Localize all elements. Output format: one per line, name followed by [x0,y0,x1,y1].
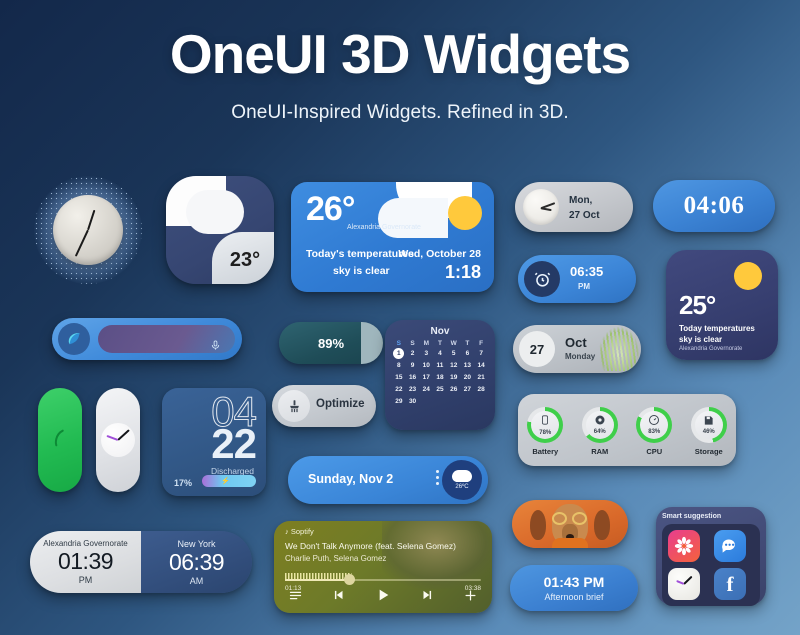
calendar-day-cell[interactable]: 25 [433,384,447,395]
music-player-widget[interactable]: ♪ Soptify We Don't Talk Anymore (feat. S… [274,521,492,613]
calendar-day-cell[interactable]: 26 [447,384,461,395]
smart-suggestion-title: Smart suggestion [662,513,760,520]
world-clock-local-time: 01:39 [58,548,113,575]
music-app-label: Soptify [291,527,314,536]
music-track-title: We Don't Talk Anymore (feat. Selena Gome… [285,541,456,551]
page-title: OneUI 3D Widgets [0,26,800,84]
clock-pill-widget[interactable] [96,388,140,492]
calendar-day-cell[interactable]: 20 [461,372,475,383]
calendar-day-header: T [433,340,447,347]
progress-ring: 46% [691,407,727,443]
facebook-glyph: f [727,572,734,597]
microphone-icon[interactable] [210,338,221,358]
weather-dark-widget[interactable]: 25° Today temperatures sky is clear Alex… [666,250,778,360]
calendar-day-cell[interactable]: 18 [433,372,447,383]
calendar-day-cell[interactable]: 7 [474,348,488,359]
calendar-day-cell[interactable]: 1 [393,348,404,359]
battery-clock-minute: 22 [211,420,256,468]
cloud-temp-value: 23° [230,249,260,272]
battery-percent-value: 89% [318,336,344,351]
world-clock-remote[interactable]: New York 06:39 AM [141,531,252,593]
gauge-value: 83% [648,429,660,435]
calendar-day-cell[interactable]: 4 [433,348,447,359]
brief-time: 01:43 PM [544,574,605,590]
world-clock-remote-meridiem: AM [190,576,204,586]
gallery-app-icon[interactable] [668,530,700,562]
search-bar-widget[interactable] [52,318,242,360]
weather-icon-widget[interactable]: 23° [166,176,274,284]
battery-fill-indicator [361,322,383,364]
queue-icon[interactable] [288,588,303,608]
sun-icon [734,262,762,290]
page-header: OneUI 3D Widgets OneUI-Inspired Widgets.… [0,0,800,124]
weather-large-widget[interactable]: 26° Alexandria Governorate Today's tempe… [291,182,494,292]
clock-hour-hand [87,210,95,231]
optimize-pill-widget[interactable]: Optimize [272,385,376,427]
weather-dark-line1: Today temperatures [679,324,755,333]
gauge-label: Battery [527,447,563,456]
calendar-day-cell[interactable]: 21 [474,372,488,383]
facebook-app-icon[interactable]: f [714,568,746,600]
next-icon[interactable] [420,588,434,607]
calendar-day-header: F [474,340,488,347]
calendar-widget[interactable]: Nov SSMTWTF12345678910111213141516171819… [385,320,495,430]
dog-sweater [552,538,588,548]
speedometer-icon [648,414,660,428]
calendar-month: Nov [392,326,488,337]
battery-level-bar: ⚡ [202,475,256,487]
gauge-inner: 46% [695,411,723,439]
calendar-day-cell[interactable]: 27 [461,384,475,395]
brief-pill-widget[interactable]: 01:43 PM Afternoon brief [510,565,638,611]
calendar-day-cell[interactable]: 10 [419,360,433,371]
calendar-day-cell[interactable]: 9 [406,360,420,371]
clock-hour-hand [676,580,684,585]
date-month: Oct [565,335,587,350]
phone-icon [49,427,71,454]
plant-icon [599,327,639,371]
gauge-label: RAM [582,447,618,456]
calendar-day-cell[interactable]: 11 [433,360,447,371]
clock-app-icon[interactable] [668,568,700,600]
progress-ring: 78% [527,407,563,443]
alarm-pill-widget[interactable]: 06:35 PM [518,255,636,303]
previous-icon[interactable] [332,588,346,607]
digital-clock-pill-widget[interactable]: 04:06 [653,180,775,232]
calendar-day-header: T [461,340,475,347]
browser-icon[interactable] [58,323,90,355]
glasses-right-lens [572,512,587,525]
alarm-meridiem: PM [578,282,590,291]
calendar-day-header: W [447,340,461,347]
weather-badge: 26ºC [442,460,482,500]
add-icon[interactable] [463,588,478,608]
world-clock-local-city: Alexandria Governorate [43,539,128,548]
clock-date-pill-widget[interactable]: Mon, 27 Oct [515,182,633,232]
calendar-day-cell[interactable]: 24 [419,384,433,395]
calendar-day-cell[interactable]: 22 [392,384,406,395]
calendar-day-header: M [419,340,433,347]
calendar-grid[interactable]: SSMTWTF123456789101112131415161718192021… [392,340,488,407]
calendar-day-header: S [392,340,406,347]
weather-sky [376,182,494,244]
weather-dark-location: Alexandria Governorate [679,346,742,352]
messages-app-icon[interactable] [714,530,746,562]
optimize-label: Optimize [316,398,365,410]
clock-minute-hand [75,230,89,257]
calendar-day-cell[interactable]: 23 [406,384,420,395]
battery-clock-percent: 17% [174,478,192,488]
clock-minute-hand [117,429,129,441]
world-clock-local-meridiem: PM [79,575,93,585]
weather-date: Wed, October 28 [398,248,481,260]
weather-line2: sky is clear [333,265,390,277]
alarm-time: 06:35 [570,264,603,279]
gauge-storage[interactable]: 46%Storage [691,407,727,456]
gauge-value: 46% [703,429,715,435]
page-subtitle: OneUI-Inspired Widgets. Refined in 3D. [0,102,800,124]
progress-knob[interactable] [344,574,355,585]
weather-time: 1:18 [445,262,481,283]
calendar-day-cell[interactable]: 14 [474,360,488,371]
weather-dark-temperature: 25° [679,290,715,321]
gauge-inner: 78% [531,411,559,439]
calendar-day-cell[interactable]: 19 [447,372,461,383]
calendar-day-cell[interactable]: 13 [461,360,475,371]
digital-clock-time: 04:06 [684,192,745,220]
date-pill-widget[interactable]: 27 Oct Monday [513,325,641,373]
calendar-day-cell[interactable]: 8 [392,360,406,371]
music-track-artist: Charlie Puth, Selena Gomez [285,554,386,563]
gauge-label: Storage [691,447,727,456]
clock-face [53,195,123,265]
gauge-ram[interactable]: 64%RAM [582,407,618,456]
gauge-value: 64% [594,429,606,435]
phone-pill-widget[interactable] [38,388,82,492]
calendar-day-cell[interactable]: 5 [447,348,461,359]
date-circle: 27 [519,331,555,367]
clock-face [523,189,559,225]
clock-pill-date: Mon, 27 Oct [569,194,600,223]
broom-icon [278,390,310,422]
weather-location: Alexandria Governorate [347,224,421,231]
world-clock-remote-time: 06:39 [169,549,224,576]
battery-icon [540,413,550,429]
weather-dark-line2: sky is clear [679,335,722,344]
clock-face [101,423,135,457]
analog-clock-widget[interactable] [34,176,142,284]
progress-ring: 83% [636,407,672,443]
clock-hour-hand [106,435,118,441]
dog-ear-right [594,510,610,540]
progress-bar[interactable] [285,579,481,581]
overflow-menu-icon[interactable] [436,470,439,488]
progress-fill [285,579,352,581]
calendar-day-cell[interactable]: 12 [447,360,461,371]
gauge-inner: 64% [586,411,614,439]
world-clock-local[interactable]: Alexandria Governorate 01:39 PM [30,531,141,593]
cloud-icon-secondary [186,190,244,234]
cloud-icon [452,470,472,482]
calendar-day-cell[interactable]: 3 [419,348,433,359]
calendar-day-cell[interactable]: 6 [461,348,475,359]
weather-badge-temp: 26ºC [455,484,468,490]
calendar-day-header: S [406,340,420,347]
smart-suggestion-widget[interactable]: Smart suggestion [656,507,766,605]
gauge-cpu[interactable]: 83%CPU [636,407,672,456]
gauge-inner: 83% [640,411,668,439]
calendar-day-cell[interactable]: 16 [406,372,420,383]
bolt-icon: ⚡ [221,477,230,485]
calendar-day-cell[interactable]: 15 [392,372,406,383]
dual-world-clock-widget[interactable]: Alexandria Governorate 01:39 PM New York… [30,531,252,593]
world-clock-remote-city: New York [177,539,215,549]
dog-ear-left [530,510,546,540]
gauge-battery[interactable]: 78%Battery [527,407,563,456]
battery-percent-pill-widget[interactable]: 89% [279,322,383,364]
clock-minute-hand [683,576,692,585]
calendar-day-cell[interactable]: 2 [406,348,420,359]
gear-icon [594,414,606,428]
calendar-day-cell[interactable]: 17 [419,372,433,383]
calendar-day-cell[interactable]: 28 [474,384,488,395]
date-pill-label: Sunday, Nov 2 [308,472,393,486]
photo-pill-widget[interactable] [512,500,628,548]
gauge-value: 78% [539,430,551,436]
clock-pill-date-line2: 27 Oct [569,209,600,224]
glasses-left-lens [552,512,567,525]
date-weather-pill-widget[interactable]: Sunday, Nov 2 26ºC [288,456,488,504]
cloud-icon-secondary [378,198,448,238]
sun-icon [448,196,482,230]
search-input[interactable] [98,325,235,353]
smart-suggestion-app-grid[interactable]: f [662,524,760,606]
battery-clock-widget[interactable]: 04 22 Discharged 17% ⚡ [162,388,266,496]
temperature-badge: 23° [212,232,274,284]
system-monitor-widget[interactable]: 78%Battery64%RAM83%CPU46%Storage [518,394,736,466]
alarm-icon [524,261,560,297]
save-icon [703,415,714,428]
music-controls[interactable] [274,587,492,608]
date-weekday: Monday [565,352,595,361]
play-icon[interactable] [375,587,391,608]
gauge-label: CPU [636,447,672,456]
progress-ring: 64% [582,407,618,443]
calendar-day-cell[interactable]: 29 [392,396,406,407]
clock-pill-date-line1: Mon, [569,194,600,209]
music-app-name: ♪ Soptify [285,527,314,536]
brief-label: Afternoon brief [544,592,603,602]
date-day-number: 27 [530,342,544,357]
calendar-day-cell[interactable]: 30 [406,396,420,407]
